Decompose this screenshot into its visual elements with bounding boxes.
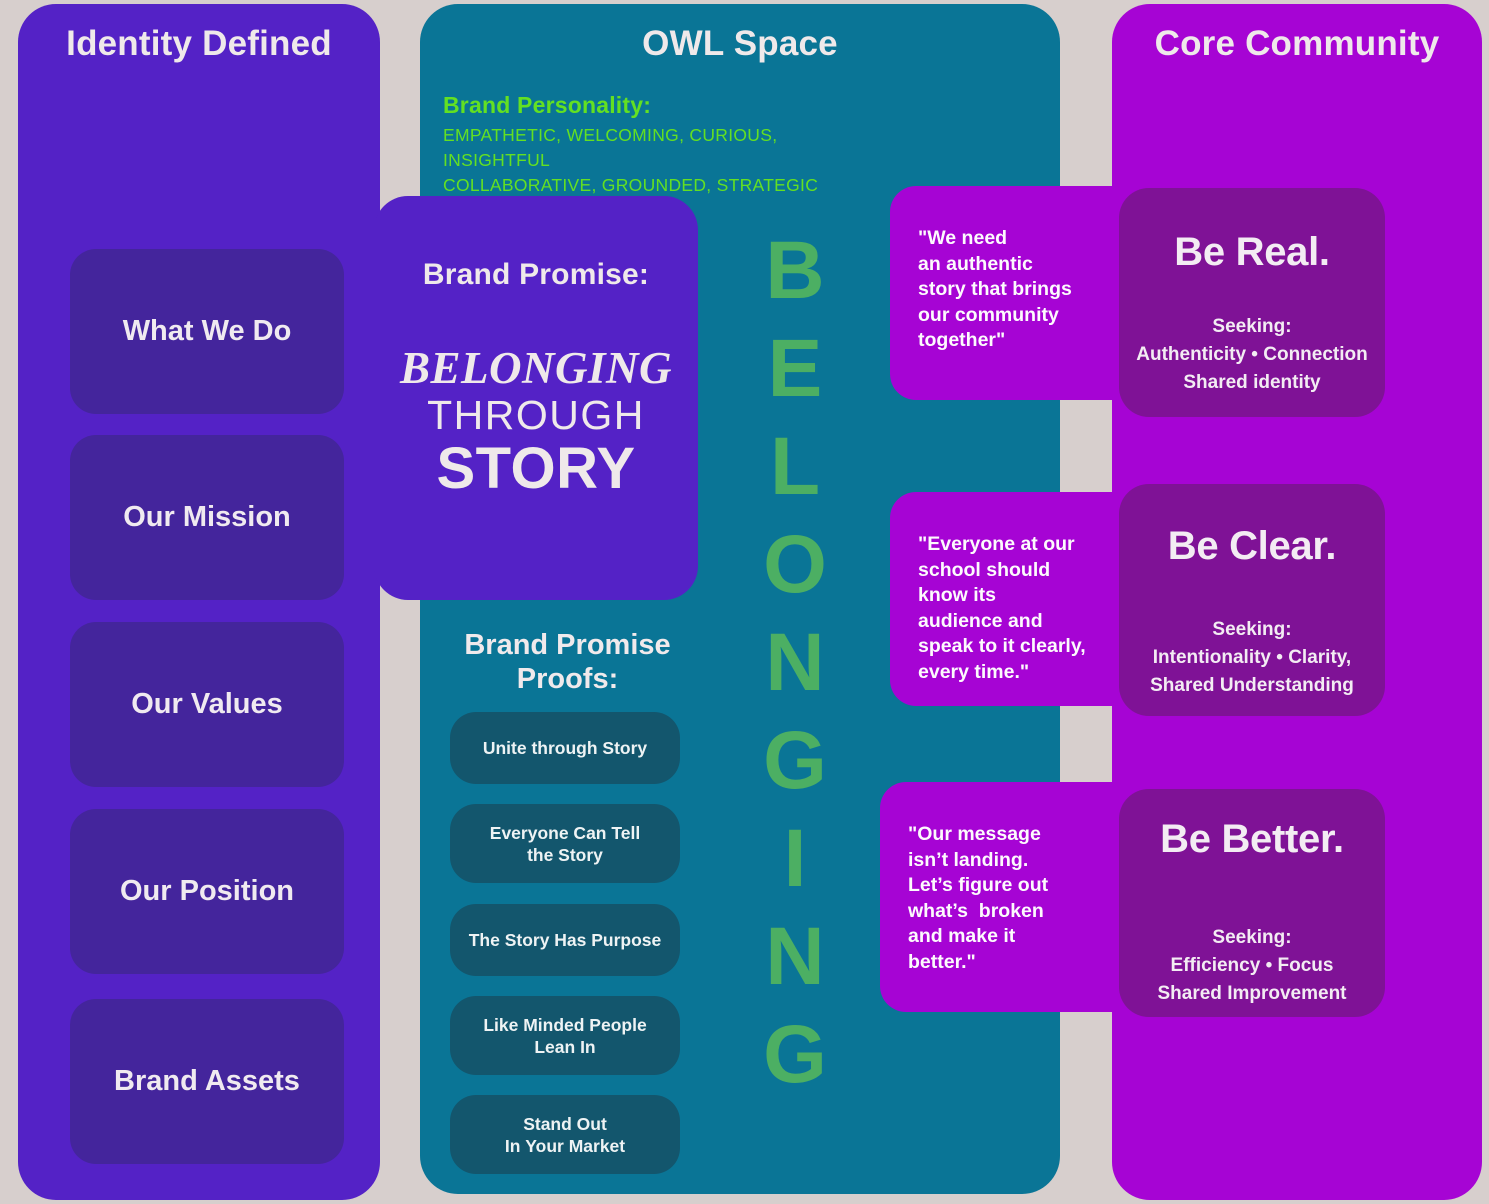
seeking-line-2: Shared Improvement <box>1119 980 1385 1008</box>
proof-pill[interactable]: Unite through Story <box>450 712 680 784</box>
core-value-card[interactable]: Be Better. Seeking: Efficiency • Focus S… <box>1119 789 1385 1017</box>
brand-personality-line-1: EMPATHETIC, WELCOMING, CURIOUS, INSIGHTF… <box>443 123 883 173</box>
column-title-identity: Identity Defined <box>18 24 380 64</box>
proof-label: Unite through Story <box>483 737 647 759</box>
seeking-line-2: Shared identity <box>1119 369 1385 397</box>
core-card-title: Be Real. <box>1119 230 1385 275</box>
proof-pill[interactable]: Like Minded PeopleLean In <box>450 996 680 1075</box>
identity-item-our-mission[interactable]: Our Mission <box>70 435 344 600</box>
diagram-canvas: Identity Defined What We Do Our Mission … <box>0 0 1489 1204</box>
seeking-label: Seeking: <box>1119 924 1385 952</box>
proof-label: The Story Has Purpose <box>469 929 662 951</box>
proof-pill[interactable]: The Story Has Purpose <box>450 904 680 976</box>
identity-item-our-position[interactable]: Our Position <box>70 809 344 974</box>
brand-promise-label: Brand Promise: <box>374 258 698 292</box>
column-title-core-community: Core Community <box>1112 24 1482 64</box>
belonging-letter: B <box>745 222 845 320</box>
brand-promise-word-story: STORY <box>374 435 698 502</box>
brand-personality-block: Brand Personality: EMPATHETIC, WELCOMING… <box>443 92 883 198</box>
column-title-owl-space: OWL Space <box>420 24 1060 64</box>
seeking-line-1: Efficiency • Focus <box>1119 952 1385 980</box>
seeking-line-1: Intentionality • Clarity, <box>1119 644 1385 672</box>
core-card-seeking: Seeking: Intentionality • Clarity, Share… <box>1119 616 1385 700</box>
proof-label: Like Minded PeopleLean In <box>483 1014 646 1058</box>
core-value-card[interactable]: Be Clear. Seeking: Intentionality • Clar… <box>1119 484 1385 716</box>
core-card-seeking: Seeking: Efficiency • Focus Shared Impro… <box>1119 924 1385 1008</box>
identity-item-our-values[interactable]: Our Values <box>70 622 344 787</box>
seeking-line-1: Authenticity • Connection <box>1119 341 1385 369</box>
identity-item-label: Our Position <box>120 875 294 908</box>
proofs-title-line-2: Proofs: <box>440 662 695 696</box>
quote-bubble: "Our messageisn’t landing.Let’s figure o… <box>880 782 1130 1012</box>
identity-item-what-we-do[interactable]: What We Do <box>70 249 344 414</box>
belonging-letter: L <box>745 418 845 516</box>
brand-promise-card: Brand Promise: BELONGING THROUGH STORY <box>374 196 698 600</box>
core-value-card[interactable]: Be Real. Seeking: Authenticity • Connect… <box>1119 188 1385 417</box>
belonging-letter: I <box>745 810 845 908</box>
proof-label: Stand OutIn Your Market <box>505 1113 625 1157</box>
core-card-title: Be Better. <box>1119 817 1385 862</box>
seeking-line-2: Shared Understanding <box>1119 672 1385 700</box>
proof-pill[interactable]: Everyone Can Tellthe Story <box>450 804 680 883</box>
core-card-seeking: Seeking: Authenticity • Connection Share… <box>1119 313 1385 397</box>
quote-bubble: "Everyone at ourschool shouldknow itsaud… <box>890 492 1130 706</box>
belonging-letter: O <box>745 516 845 614</box>
seeking-label: Seeking: <box>1119 313 1385 341</box>
belonging-letter: E <box>745 320 845 418</box>
proofs-title-line-1: Brand Promise <box>440 628 695 662</box>
identity-item-brand-assets[interactable]: Brand Assets <box>70 999 344 1164</box>
brand-promise-word-belonging: BELONGING <box>374 342 698 394</box>
brand-promise-proofs-title: Brand Promise Proofs: <box>440 628 695 696</box>
belonging-letter: N <box>745 614 845 712</box>
proof-label: Everyone Can Tellthe Story <box>490 822 640 866</box>
core-card-title: Be Clear. <box>1119 524 1385 569</box>
seeking-label: Seeking: <box>1119 616 1385 644</box>
brand-personality-heading: Brand Personality: <box>443 92 883 119</box>
vertical-belonging-word: B E L O N G I N G <box>745 222 845 1104</box>
belonging-letter: G <box>745 1006 845 1104</box>
brand-personality-line-2: COLLABORATIVE, GROUNDED, STRATEGIC <box>443 173 883 198</box>
identity-item-label: Our Values <box>131 688 283 721</box>
identity-item-label: What We Do <box>123 315 292 348</box>
identity-item-label: Brand Assets <box>114 1065 300 1098</box>
quote-bubble: "We needan authenticstory that bringsour… <box>890 186 1130 400</box>
identity-item-label: Our Mission <box>123 501 291 534</box>
brand-promise-word-through: THROUGH <box>374 392 698 439</box>
belonging-letter: G <box>745 712 845 810</box>
proof-pill[interactable]: Stand OutIn Your Market <box>450 1095 680 1174</box>
belonging-letter: N <box>745 908 845 1006</box>
